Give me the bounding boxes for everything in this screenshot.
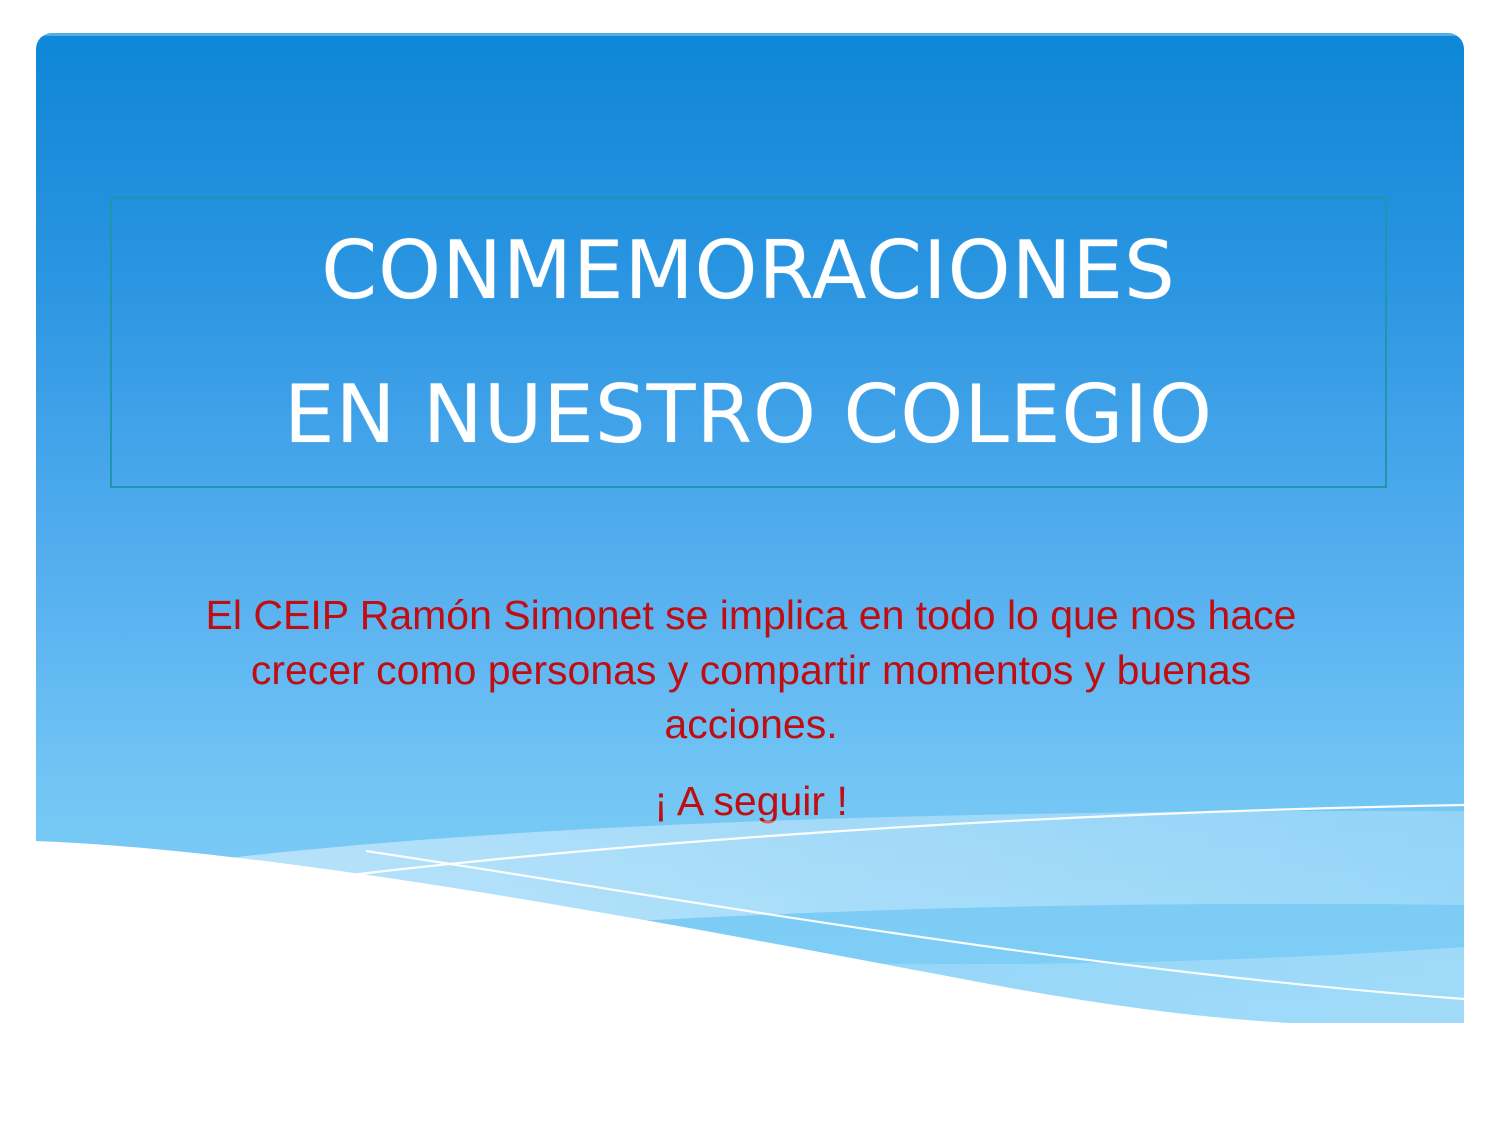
slide-panel: CONMEMORACIONES EN NUESTRO COLEGIO El CE… bbox=[36, 33, 1464, 1023]
wave-band-upper bbox=[36, 811, 1464, 975]
wave-line-arc-down bbox=[366, 851, 1464, 999]
body-closing-line: ¡ A seguir ! bbox=[186, 774, 1316, 829]
panel-top-highlight bbox=[36, 33, 1464, 36]
title-line-2: EN NUESTRO COLEGIO bbox=[284, 374, 1213, 456]
title-line-1: CONMEMORACIONES bbox=[321, 230, 1176, 312]
wave-white-main bbox=[36, 841, 1464, 1023]
body-paragraph: El CEIP Ramón Simonet se implica en todo… bbox=[186, 588, 1316, 752]
wave-band-lower bbox=[36, 921, 1464, 1023]
title-box: CONMEMORACIONES EN NUESTRO COLEGIO bbox=[110, 197, 1387, 488]
body-text-block: El CEIP Ramón Simonet se implica en todo… bbox=[186, 588, 1316, 828]
slide-canvas: CONMEMORACIONES EN NUESTRO COLEGIO El CE… bbox=[0, 0, 1500, 1125]
